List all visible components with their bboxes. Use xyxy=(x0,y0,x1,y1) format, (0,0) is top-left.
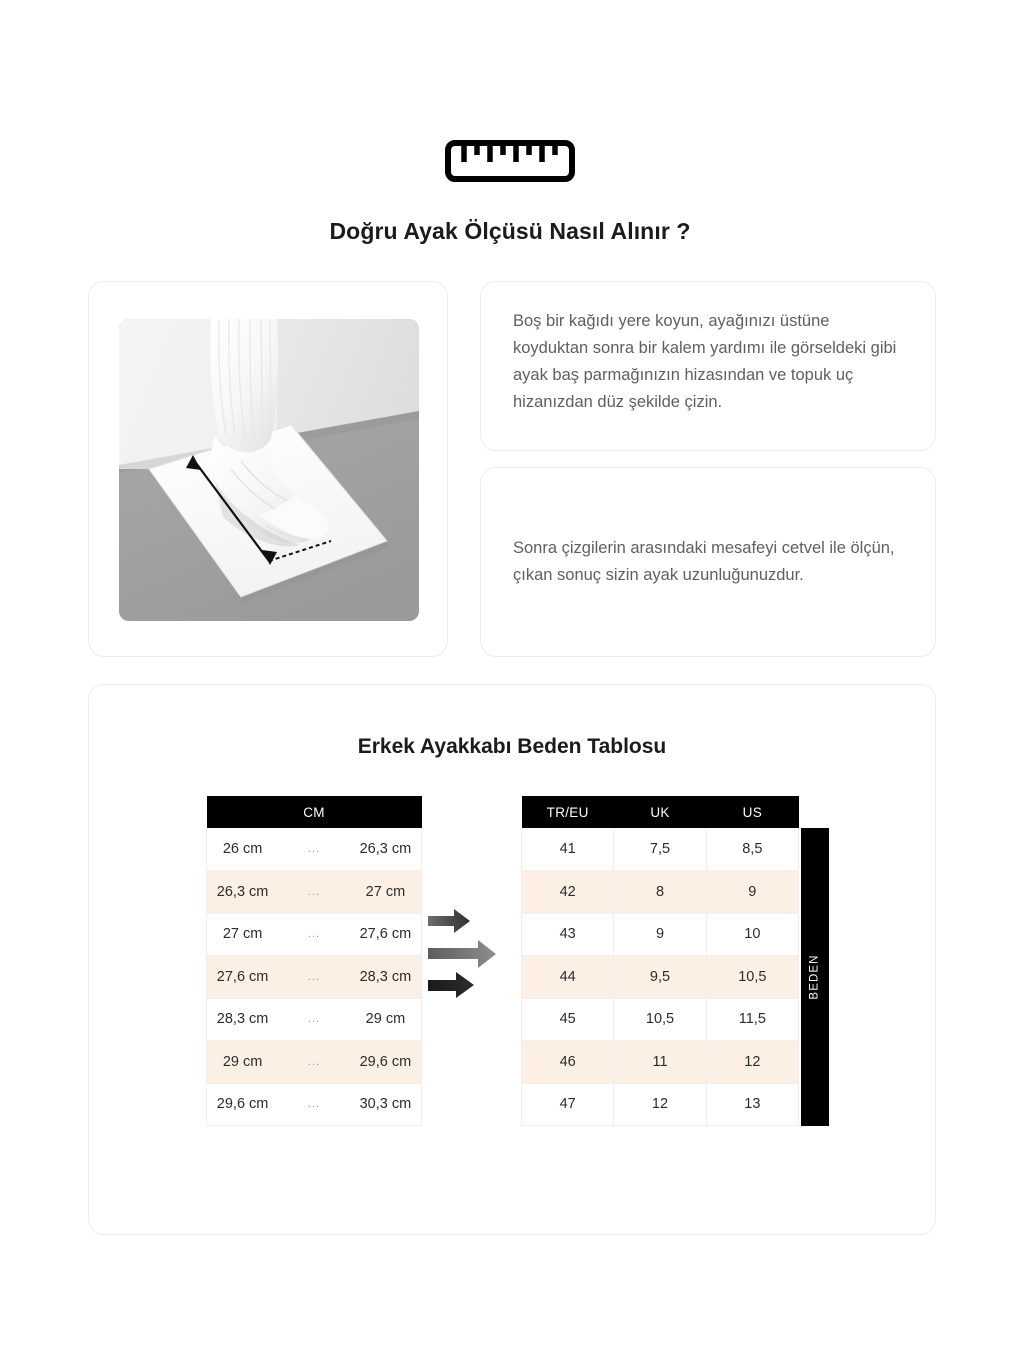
table-row: 46 11 12 xyxy=(522,1041,799,1084)
cell-uk: 7,5 xyxy=(614,828,706,871)
cm-from: 26,3 cm xyxy=(207,871,279,914)
cm-to: 26,3 cm xyxy=(350,828,422,871)
beden-sidebar: BEDEN xyxy=(801,828,829,1126)
cm-header-cell: CM xyxy=(207,796,422,828)
cell-uk: 9 xyxy=(614,913,706,956)
page-title: Doğru Ayak Ölçüsü Nasıl Alınır ? xyxy=(0,218,1020,245)
cell-us: 11,5 xyxy=(706,998,798,1041)
cm-from: 29,6 cm xyxy=(207,1083,279,1126)
table-row: 29,6 cm ... 30,3 cm xyxy=(207,1083,422,1126)
header-us: US xyxy=(706,796,798,828)
table-row: 41 7,5 8,5 xyxy=(522,828,799,871)
size-table-card: Erkek Ayakkabı Beden Tablosu CM 26 cm ..… xyxy=(88,684,936,1235)
instructions-section: Boş bir kağıdı yere koyun, ayağınızı üst… xyxy=(88,281,936,657)
header-uk: UK xyxy=(614,796,706,828)
table-row: 44 9,5 10,5 xyxy=(522,956,799,999)
cm-from: 28,3 cm xyxy=(207,998,279,1041)
right-arrows-icon xyxy=(426,904,518,1004)
table-row: 29 cm ... 29,6 cm xyxy=(207,1041,422,1084)
instruction-card-1: Boş bir kağıdı yere koyun, ayağınızı üst… xyxy=(480,281,936,451)
cell-us: 8,5 xyxy=(706,828,798,871)
cell-us: 12 xyxy=(706,1041,798,1084)
cell-uk: 12 xyxy=(614,1083,706,1126)
ruler-icon xyxy=(445,140,575,182)
size-conversion-table: TR/EU UK US 41 7,5 8,5 42 8 9 xyxy=(521,796,799,1126)
cell-us: 13 xyxy=(706,1083,798,1126)
size-guide-page: Doğru Ayak Ölçüsü Nasıl Alınır ? xyxy=(0,0,1020,1360)
cm-separator: ... xyxy=(278,1041,350,1084)
cell-treu: 41 xyxy=(522,828,614,871)
cell-uk: 9,5 xyxy=(614,956,706,999)
table-row: 27,6 cm ... 28,3 cm xyxy=(207,956,422,999)
instruction-card-2: Sonra çizgilerin arasındaki mesafeyi cet… xyxy=(480,467,936,657)
cm-to: 28,3 cm xyxy=(350,956,422,999)
cm-to: 29,6 cm xyxy=(350,1041,422,1084)
cell-uk: 11 xyxy=(614,1041,706,1084)
table-row: 43 9 10 xyxy=(522,913,799,956)
cm-separator: ... xyxy=(278,956,350,999)
cm-table-header-row: CM xyxy=(207,796,422,828)
cm-separator: ... xyxy=(278,871,350,914)
cm-from: 29 cm xyxy=(207,1041,279,1084)
size-tables-container: CM 26 cm ... 26,3 cm 26,3 cm ... 27 cm xyxy=(89,796,937,1131)
cell-treu: 47 xyxy=(522,1083,614,1126)
cm-from: 26 cm xyxy=(207,828,279,871)
cm-table: CM 26 cm ... 26,3 cm 26,3 cm ... 27 cm xyxy=(206,796,422,1126)
size-table-title: Erkek Ayakkabı Beden Tablosu xyxy=(89,735,935,759)
cm-separator: ... xyxy=(278,1083,350,1126)
cell-uk: 8 xyxy=(614,871,706,914)
table-row: 28,3 cm ... 29 cm xyxy=(207,998,422,1041)
instruction-text-2: Sonra çizgilerin arasındaki mesafeyi cet… xyxy=(513,535,903,589)
cm-to: 30,3 cm xyxy=(350,1083,422,1126)
table-row: 27 cm ... 27,6 cm xyxy=(207,913,422,956)
cell-treu: 46 xyxy=(522,1041,614,1084)
table-row: 45 10,5 11,5 xyxy=(522,998,799,1041)
cell-treu: 43 xyxy=(522,913,614,956)
cell-us: 9 xyxy=(706,871,798,914)
table-row: 47 12 13 xyxy=(522,1083,799,1126)
cell-treu: 44 xyxy=(522,956,614,999)
cm-from: 27 cm xyxy=(207,913,279,956)
cm-from: 27,6 cm xyxy=(207,956,279,999)
ruler-icon-container xyxy=(0,140,1020,182)
cm-separator: ... xyxy=(278,998,350,1041)
cell-treu: 42 xyxy=(522,871,614,914)
cell-us: 10 xyxy=(706,913,798,956)
header-treu: TR/EU xyxy=(522,796,614,828)
table-row: 26 cm ... 26,3 cm xyxy=(207,828,422,871)
size-table-header-row: TR/EU UK US xyxy=(522,796,799,828)
cell-treu: 45 xyxy=(522,998,614,1041)
cm-to: 27 cm xyxy=(350,871,422,914)
cm-separator: ... xyxy=(278,913,350,956)
photo-card xyxy=(88,281,448,657)
cell-uk: 10,5 xyxy=(614,998,706,1041)
cell-us: 10,5 xyxy=(706,956,798,999)
cm-separator: ... xyxy=(278,828,350,871)
cm-to: 27,6 cm xyxy=(350,913,422,956)
cm-to: 29 cm xyxy=(350,998,422,1041)
beden-label: BEDEN xyxy=(809,954,821,999)
table-row: 42 8 9 xyxy=(522,871,799,914)
table-row: 26,3 cm ... 27 cm xyxy=(207,871,422,914)
foot-measurement-photo xyxy=(119,319,419,621)
instruction-text-1: Boş bir kağıdı yere koyun, ayağınızı üst… xyxy=(513,308,903,416)
